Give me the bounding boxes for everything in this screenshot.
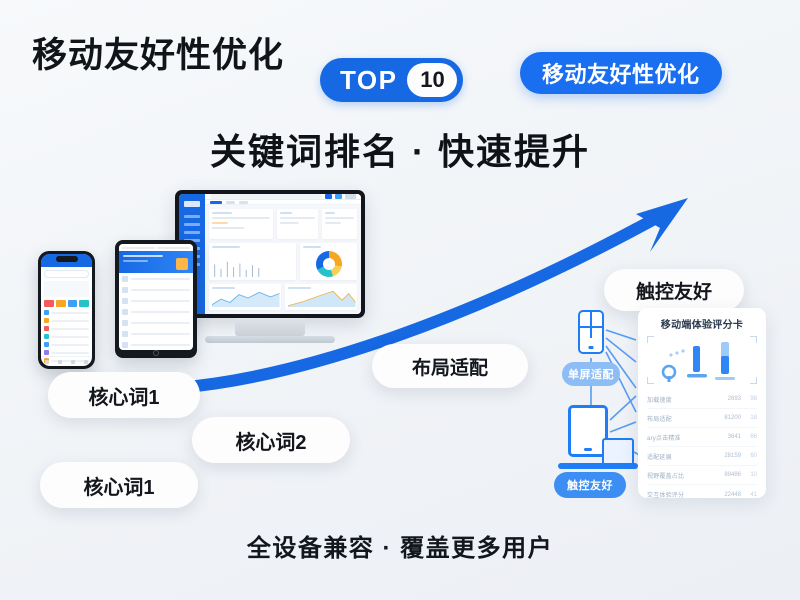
- row-label: 视野覆盖占比: [647, 471, 717, 480]
- diagram-pill-bottom: 触控友好: [554, 472, 626, 498]
- dashboard-search-field: [210, 194, 322, 199]
- table-row: 加载速度 2693 98: [647, 390, 757, 409]
- diagram-pill-top: 单屏适配: [562, 362, 620, 386]
- row-value-2: 41: [741, 492, 757, 498]
- scorecard-table: 加载速度 2693 98 布局适配 81200 18 ary点击精准 3641 …: [647, 390, 757, 504]
- row-value-1: 3641: [717, 434, 741, 440]
- row-value-2: 18: [741, 415, 757, 421]
- row-label: 加载速度: [647, 395, 717, 404]
- scorecard-chart: [647, 336, 757, 384]
- row-value-1: 22448: [717, 492, 741, 498]
- row-value-1: 81200: [717, 415, 741, 421]
- tablet-mockup: [115, 240, 197, 358]
- poster-canvas: 移动友好性优化 TOP 10 移动友好性优化 关键词排名 · 快速提升: [0, 0, 800, 600]
- monitor-base: [205, 336, 335, 343]
- diagram-laptop-base: [558, 463, 638, 469]
- phone-notch: [56, 256, 78, 262]
- row-label: ary点击精准: [647, 433, 717, 442]
- row-label: 布局适配: [647, 414, 717, 423]
- dashboard-donut-chart: [316, 251, 342, 277]
- row-value-2: 66: [741, 434, 757, 440]
- header-tag-pill: 移动友好性优化: [520, 52, 722, 94]
- keyword-pill-3[interactable]: 核心词1: [40, 462, 198, 508]
- dashboard-bar-chart: [212, 259, 266, 277]
- keyword-pill-1[interactable]: 核心词1: [48, 372, 200, 418]
- dashboard-chip: [335, 194, 342, 199]
- diagram-laptop-icon: [602, 438, 634, 466]
- dashboard-main: [205, 194, 361, 314]
- row-value-2: 98: [741, 396, 757, 402]
- dashboard-body: [205, 205, 361, 314]
- row-label: 适配延展: [647, 452, 717, 461]
- top-rank-number: 10: [407, 63, 457, 97]
- page-title: 移动友好性优化: [32, 27, 284, 78]
- page-subtitle: 关键词排名 · 快速提升: [0, 123, 800, 175]
- footer-caption: 全设备兼容 · 覆盖更多用户: [0, 528, 800, 563]
- desktop-dashboard-screen: [179, 194, 361, 314]
- scorecard-title: 移动端体验评分卡: [647, 316, 757, 331]
- phone-quick-tiles: [41, 300, 92, 310]
- diagram-phone-icon: [578, 310, 604, 354]
- dashboard-area-chart-1: [212, 289, 280, 307]
- scorecard-bar-graphic: [647, 336, 757, 384]
- tablet-screen: [119, 244, 193, 350]
- row-value-2: 60: [741, 453, 757, 459]
- row-value-1: 2693: [717, 396, 741, 402]
- phone-screen: [41, 254, 92, 366]
- row-value-1: 28159: [717, 453, 741, 459]
- device-network-diagram: 单屏适配 触控友好 移动端体验评分卡: [548, 300, 798, 520]
- tablet-list: [119, 273, 193, 350]
- table-row: 视野覆盖占比 89486 10: [647, 466, 757, 485]
- keyword-pill-2[interactable]: 核心词2: [192, 417, 350, 463]
- dashboard-area-chart-2: [288, 289, 356, 307]
- monitor-stand: [235, 318, 305, 336]
- top-label: TOP: [340, 65, 397, 96]
- row-value-1: 89486: [717, 472, 741, 478]
- table-row: 交互体验评分 22448 41: [647, 485, 757, 504]
- table-row: ary点击精准 3641 66: [647, 428, 757, 447]
- row-label: 交互体验评分: [647, 490, 717, 499]
- table-row: 布局适配 81200 18: [647, 409, 757, 428]
- dashboard-chip: [325, 194, 332, 199]
- phone-promo-card: [44, 281, 89, 297]
- phone-tabbar: [41, 356, 92, 366]
- top-rank-badge: TOP 10: [320, 58, 463, 102]
- desktop-monitor-mockup: [175, 190, 365, 318]
- table-row: 适配延展 28159 60: [647, 447, 757, 466]
- tablet-home-button: [153, 350, 159, 356]
- dashboard-chip: [345, 194, 356, 199]
- phone-mockup: [38, 251, 95, 369]
- phone-search-bar: [44, 270, 89, 278]
- feature-pill-layout[interactable]: 布局适配: [372, 344, 528, 388]
- row-value-2: 10: [741, 472, 757, 478]
- scorecard-panel: 移动端体验评分卡 加载速度: [638, 308, 766, 498]
- tablet-banner: [119, 251, 193, 273]
